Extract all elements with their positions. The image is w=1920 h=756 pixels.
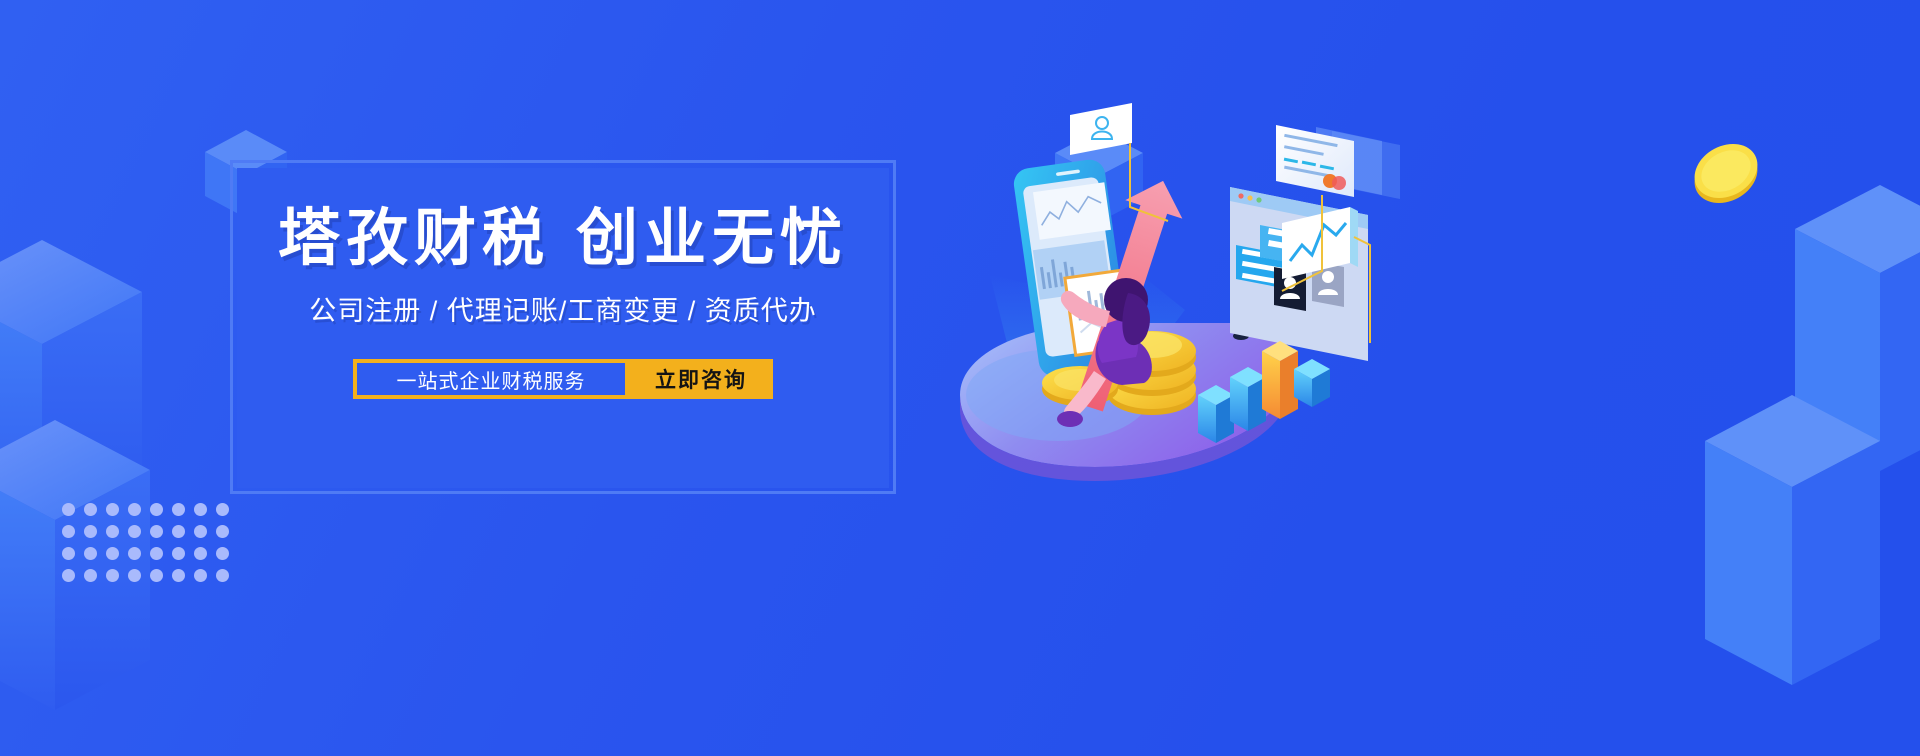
grid-dot bbox=[84, 525, 97, 538]
grid-dot bbox=[194, 503, 207, 516]
grid-dot bbox=[84, 503, 97, 516]
grid-dot bbox=[106, 503, 119, 516]
grid-dot bbox=[216, 503, 229, 516]
cta-bar: 一站式企业财税服务 立即咨询 bbox=[353, 359, 773, 399]
page-title-part2: 创业无忧 bbox=[576, 204, 848, 273]
grid-dot bbox=[84, 547, 97, 560]
grid-dot bbox=[194, 525, 207, 538]
illustration-canvas bbox=[930, 95, 1400, 515]
grid-dot bbox=[106, 547, 119, 560]
grid-dot bbox=[216, 525, 229, 538]
grid-dot bbox=[62, 503, 75, 516]
cube-right-lower-icon bbox=[1705, 395, 1880, 725]
grid-dot bbox=[62, 569, 75, 582]
grid-dot bbox=[106, 525, 119, 538]
consult-now-button[interactable]: 立即咨询 bbox=[629, 359, 773, 399]
services-subtitle: 公司注册 / 代理记账/工商变更 / 资质代办 bbox=[309, 298, 817, 325]
grid-dot bbox=[216, 569, 229, 582]
page-title-part1: 塔孜财税 bbox=[278, 204, 550, 273]
grid-dot bbox=[84, 569, 97, 582]
grid-dot bbox=[128, 569, 141, 582]
grid-dot bbox=[62, 525, 75, 538]
grid-dot bbox=[172, 547, 185, 560]
coin-top-right-icon bbox=[1690, 140, 1762, 206]
grid-dot bbox=[216, 547, 229, 560]
grid-dot bbox=[128, 503, 141, 516]
grid-dot bbox=[106, 569, 119, 582]
grid-dot bbox=[150, 525, 163, 538]
grid-dot bbox=[194, 547, 207, 560]
grid-dot bbox=[172, 569, 185, 582]
cta-tagline: 一站式企业财税服务 bbox=[357, 363, 625, 395]
page-title: 塔孜财税创业无忧 bbox=[278, 208, 848, 270]
dot-grid-decoration bbox=[62, 503, 238, 591]
promo-banner: 塔孜财税创业无忧 公司注册 / 代理记账/工商变更 / 资质代办 一站式企业财税… bbox=[0, 0, 1920, 756]
credit-card-card bbox=[1276, 125, 1400, 199]
grid-dot bbox=[150, 569, 163, 582]
isometric-fintech-illustration bbox=[930, 95, 1400, 515]
grid-dot bbox=[62, 547, 75, 560]
grid-dot bbox=[172, 525, 185, 538]
contact-avatar-card bbox=[1070, 103, 1132, 155]
grid-dot bbox=[128, 525, 141, 538]
grid-dot bbox=[150, 503, 163, 516]
grid-dot bbox=[150, 547, 163, 560]
grid-dot bbox=[128, 547, 141, 560]
grid-dot bbox=[172, 503, 185, 516]
headline-content: 塔孜财税创业无忧 公司注册 / 代理记账/工商变更 / 资质代办 一站式企业财税… bbox=[237, 168, 889, 488]
grid-dot bbox=[194, 569, 207, 582]
